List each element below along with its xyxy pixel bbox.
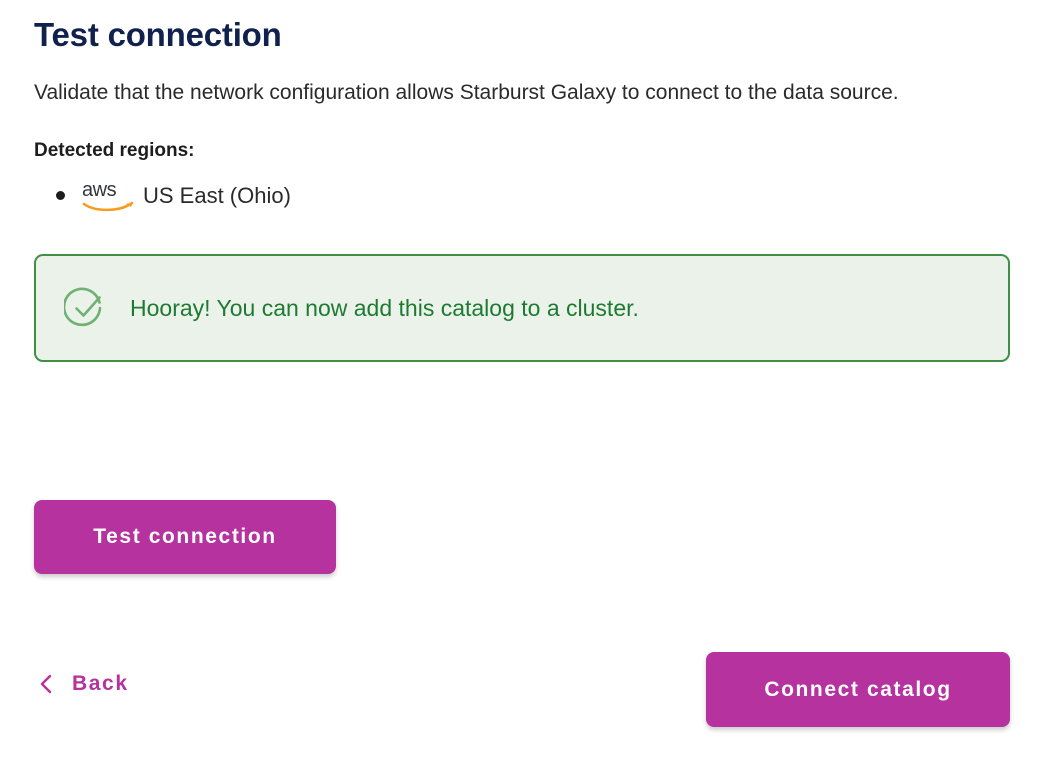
svg-text:aws: aws (82, 179, 117, 201)
test-connection-panel: Test connection Validate that the networ… (0, 0, 1044, 778)
back-button[interactable]: Back (34, 666, 133, 702)
page-description: Validate that the network configuration … (34, 56, 994, 110)
connect-catalog-button[interactable]: Connect catalog (706, 652, 1010, 727)
status-banner-message: Hooray! You can now add this catalog to … (130, 293, 639, 323)
detected-regions-label: Detected regions: (34, 110, 1010, 163)
status-banner-success: Hooray! You can now add this catalog to … (34, 254, 1010, 362)
list-item: aws US East (Ohio) (82, 179, 1010, 213)
region-name: US East (Ohio) (143, 181, 291, 211)
wizard-footer-nav: Back Connect catalog (34, 652, 1010, 730)
test-connection-button[interactable]: Test connection (34, 500, 336, 574)
chevron-left-icon (38, 673, 54, 695)
page-title: Test connection (34, 0, 1010, 56)
detected-regions-list: aws US East (Ohio) (34, 163, 1010, 213)
back-label: Back (72, 672, 129, 696)
check-circle-icon (64, 287, 106, 329)
aws-logo-icon: aws (82, 179, 136, 213)
